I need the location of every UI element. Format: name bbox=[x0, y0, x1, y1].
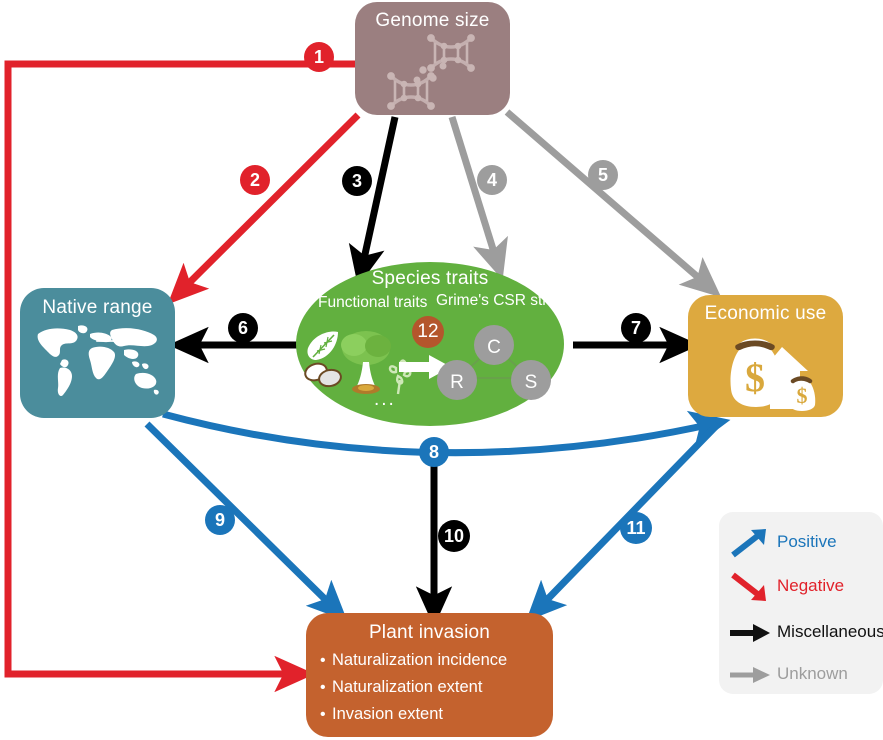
list-item: Naturalization extent bbox=[320, 674, 553, 701]
edge-7-badge: 7 bbox=[621, 313, 651, 343]
edge-9-badge: 9 bbox=[205, 505, 235, 535]
arrow-up-right-icon bbox=[729, 528, 771, 558]
arrow-right-icon bbox=[729, 660, 771, 690]
edge-1-badge: 1 bbox=[304, 42, 334, 72]
edge-4-badge: 4 bbox=[477, 165, 507, 195]
plant-invasion-list: Naturalization incidence Naturalization … bbox=[306, 647, 553, 728]
svg-text:$: $ bbox=[745, 355, 765, 400]
legend-label-positive: Positive bbox=[777, 530, 837, 554]
svg-text:$: $ bbox=[797, 383, 808, 408]
edge-8-badge: 8 bbox=[419, 437, 449, 467]
arrow-down-right-icon bbox=[729, 572, 771, 602]
node-native-range[interactable]: Native range bbox=[20, 288, 175, 418]
edge-10-badge: 10 bbox=[438, 520, 470, 552]
arrow-right-icon bbox=[729, 618, 771, 648]
node-economic-use[interactable]: Economic use $ $ bbox=[688, 295, 843, 417]
edge-3-badge: 3 bbox=[342, 166, 372, 196]
csr-strategy-label: Grime's CSR strategy bbox=[436, 292, 556, 310]
legend-label-miscellaneous: Miscellaneous bbox=[777, 620, 883, 644]
dna-helix-icon bbox=[385, 32, 481, 110]
csr-triangle-graph: C R S bbox=[436, 324, 552, 402]
legend-panel: Positive Negative Miscellaneous bbox=[719, 512, 883, 694]
traits-ellipsis: ... bbox=[374, 394, 396, 406]
leaf-icon bbox=[307, 332, 338, 360]
diagram-canvas: Genome size bbox=[0, 0, 883, 740]
edge-5-badge: 5 bbox=[588, 160, 618, 190]
legend-label-negative: Negative bbox=[777, 574, 844, 598]
edge-5-path bbox=[507, 112, 707, 285]
seed-icon bbox=[304, 361, 342, 388]
node-species-traits[interactable]: Species traits Functional traits Grime's… bbox=[296, 262, 564, 426]
node-plant-invasion-label: Plant invasion bbox=[306, 621, 553, 645]
money-bag-house-icon: $ $ bbox=[712, 325, 820, 411]
legend-label-unknown: Unknown bbox=[777, 662, 848, 686]
edge-9-path bbox=[147, 424, 334, 608]
node-species-traits-label: Species traits bbox=[296, 268, 564, 290]
node-economic-use-label: Economic use bbox=[688, 303, 843, 325]
node-plant-invasion[interactable]: Plant invasion Naturalization incidence … bbox=[306, 613, 553, 737]
node-genome-size[interactable]: Genome size bbox=[355, 2, 510, 115]
edge-2-path bbox=[181, 115, 358, 291]
edge-3-path bbox=[362, 117, 395, 268]
edge-11-badge: 11 bbox=[620, 512, 652, 544]
edge-2-badge: 2 bbox=[240, 165, 270, 195]
svg-text:S: S bbox=[525, 372, 538, 393]
svg-text:C: C bbox=[487, 337, 501, 358]
functional-traits-label: Functional traits bbox=[318, 294, 422, 312]
node-native-range-label: Native range bbox=[20, 297, 175, 319]
world-map-icon bbox=[32, 320, 164, 400]
edge-6-badge: 6 bbox=[228, 313, 258, 343]
svg-text:R: R bbox=[450, 372, 464, 393]
list-item: Invasion extent bbox=[320, 701, 553, 728]
tree-icon bbox=[341, 331, 391, 394]
node-genome-size-label: Genome size bbox=[355, 10, 510, 32]
list-item: Naturalization incidence bbox=[320, 647, 553, 674]
